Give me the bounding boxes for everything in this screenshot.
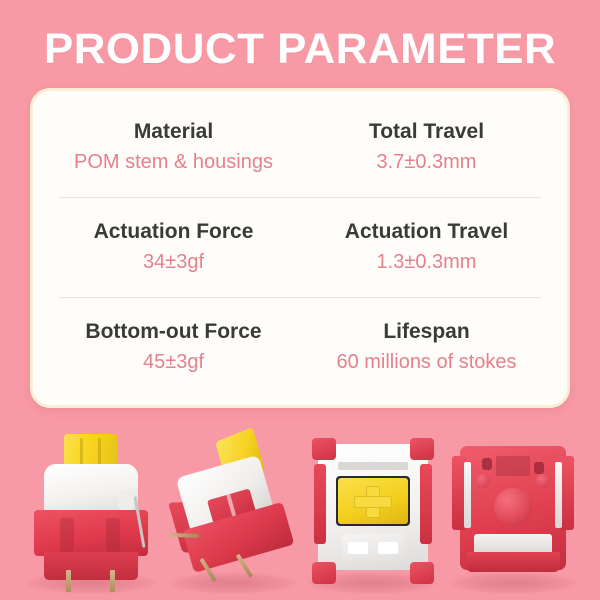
switch-side-rail bbox=[314, 464, 326, 544]
spec-label: Lifespan bbox=[383, 319, 469, 345]
spec-row: Material POM stem & housings Total Trave… bbox=[47, 97, 553, 197]
switch-side-rail bbox=[420, 464, 432, 544]
switch-center-post bbox=[494, 488, 532, 526]
switch-corner-clip bbox=[410, 438, 434, 460]
switch-front-view-image bbox=[32, 434, 150, 584]
switch-brand-embossing bbox=[338, 462, 408, 470]
switch-corner-clip bbox=[312, 562, 336, 584]
spec-label: Actuation Travel bbox=[345, 219, 508, 245]
spec-label: Total Travel bbox=[369, 119, 484, 145]
page-title-banner: PRODUCT PARAMETER bbox=[0, 20, 600, 78]
switch-cross-mount bbox=[354, 496, 392, 508]
spec-cell-lifespan: Lifespan 60 millions of stokes bbox=[300, 319, 553, 374]
switch-angled-view-image bbox=[172, 432, 292, 584]
switch-base-skirt bbox=[44, 552, 138, 580]
spec-value: POM stem & housings bbox=[74, 149, 273, 175]
switch-bottom-housing-view-image bbox=[452, 440, 574, 584]
spec-value: 3.7±0.3mm bbox=[377, 149, 477, 175]
spec-label: Actuation Force bbox=[94, 219, 254, 245]
spec-row: Actuation Force 34±3gf Actuation Travel … bbox=[47, 197, 553, 297]
spec-cell-material: Material POM stem & housings bbox=[47, 119, 300, 174]
switch-pin bbox=[110, 570, 115, 592]
switch-body bbox=[153, 418, 310, 597]
switch-pin-hole bbox=[534, 462, 544, 474]
spec-row: Bottom-out Force 45±3gf Lifespan 60 mill… bbox=[47, 297, 553, 397]
spec-cell-actuation-force: Actuation Force 34±3gf bbox=[47, 219, 300, 274]
page-title: PRODUCT PARAMETER bbox=[44, 28, 556, 71]
switch-top-housing bbox=[44, 464, 138, 516]
switch-corner-clip bbox=[410, 562, 434, 584]
spec-label: Material bbox=[134, 119, 213, 145]
switch-alignment-nub bbox=[536, 474, 550, 488]
switch-top-view-image bbox=[312, 438, 434, 584]
switch-alignment-nub bbox=[476, 474, 490, 488]
spec-cell-total-travel: Total Travel 3.7±0.3mm bbox=[300, 119, 553, 174]
switch-pin bbox=[66, 570, 71, 592]
switch-side-rail bbox=[464, 462, 471, 528]
switch-brand-embossing bbox=[496, 456, 530, 476]
product-photo-strip bbox=[0, 415, 600, 600]
spec-value: 1.3±0.3mm bbox=[377, 249, 477, 275]
spec-cell-bottom-out-force: Bottom-out Force 45±3gf bbox=[47, 319, 300, 374]
spec-value: 60 millions of stokes bbox=[336, 349, 516, 375]
switch-pin bbox=[169, 533, 199, 538]
switch-side-rail bbox=[555, 462, 562, 528]
switch-led-slot bbox=[342, 534, 404, 562]
spec-value: 34±3gf bbox=[143, 249, 204, 275]
switch-base-skirt bbox=[466, 552, 560, 572]
spec-cell-actuation-travel: Actuation Travel 1.3±0.3mm bbox=[300, 219, 553, 274]
spec-value: 45±3gf bbox=[143, 349, 204, 375]
switch-pin-hole bbox=[482, 458, 492, 470]
spec-card: Material POM stem & housings Total Trave… bbox=[30, 88, 570, 408]
spec-label: Bottom-out Force bbox=[85, 319, 261, 345]
switch-corner-clip bbox=[312, 438, 336, 460]
switch-side-tab bbox=[560, 456, 574, 530]
switch-bottom-housing bbox=[34, 510, 148, 556]
